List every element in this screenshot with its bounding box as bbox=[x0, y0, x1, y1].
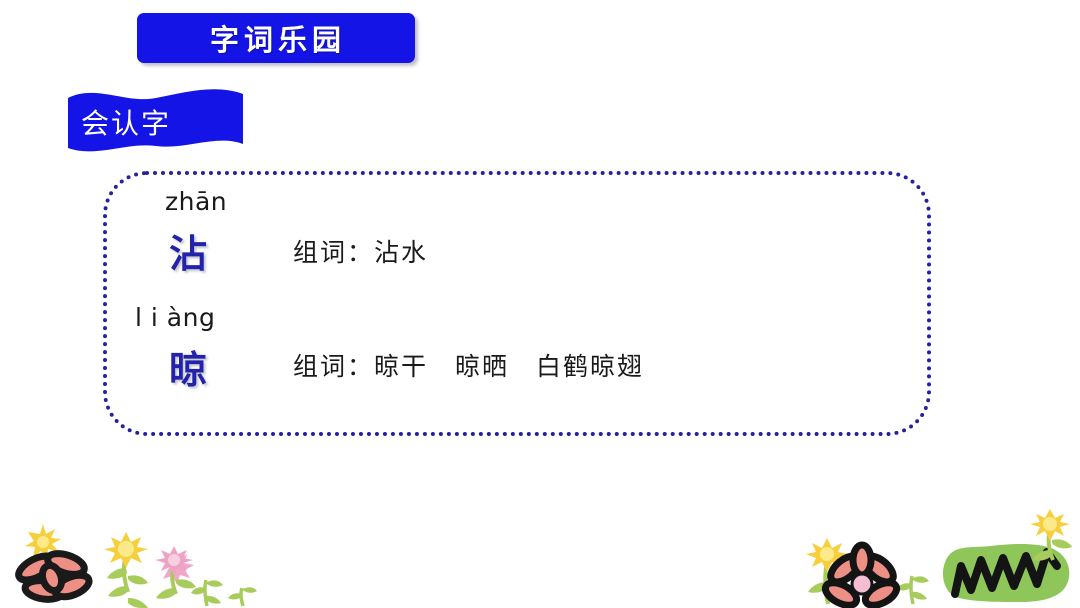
words-liang: 组词：晾干 晾晒 白鹤晾翅 bbox=[293, 347, 644, 383]
character-zhan: 沾 bbox=[169, 223, 207, 278]
pinyin-zhan: zhān bbox=[165, 187, 227, 216]
words-zhan: 组词：沾水 bbox=[293, 233, 428, 269]
decoration-flowers-left bbox=[0, 516, 260, 608]
content-box: zhān 沾 组词：沾水 l i àng 晾 组词：晾干 晾晒 白鹤晾翅 bbox=[103, 171, 931, 436]
page-title: 字词乐园 bbox=[206, 17, 346, 59]
section-label: 会认字 bbox=[68, 88, 243, 156]
title-banner: 字词乐园 bbox=[137, 13, 415, 63]
salmon-flower-icon bbox=[15, 550, 92, 602]
character-liang: 晾 bbox=[169, 339, 207, 394]
pinyin-liang: l i àng bbox=[135, 303, 215, 332]
green-sprout-icon bbox=[191, 580, 223, 606]
yellow-daisy-icon bbox=[104, 532, 148, 608]
section-ribbon-banner: 会认字 bbox=[68, 88, 243, 156]
green-sprout-icon bbox=[897, 576, 929, 604]
green-sprout-icon bbox=[228, 587, 257, 606]
pink-flower-stem-icon bbox=[155, 546, 196, 599]
decoration-flowers-right bbox=[795, 514, 1080, 608]
